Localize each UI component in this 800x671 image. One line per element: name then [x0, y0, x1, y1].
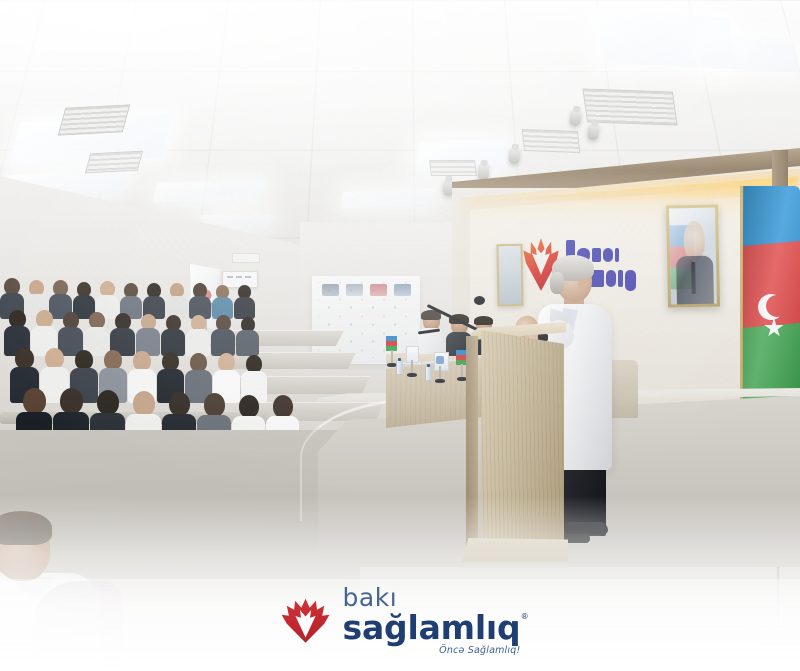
desk-flag [406, 346, 418, 364]
brand-name-line1: bakı [343, 585, 521, 610]
lectern [472, 330, 564, 562]
desk-flag [434, 352, 446, 370]
foreground-attendee-shoulder [32, 581, 122, 671]
brand-name-line2-text: sağlamlıq [343, 608, 521, 647]
air-vent [85, 151, 143, 174]
microphone-arm [427, 304, 479, 331]
portrait-glass-reflection [669, 208, 717, 305]
wall-sign [232, 253, 260, 263]
track-spotlight-icon [477, 164, 489, 181]
conference-hall-scene [0, 0, 800, 671]
foreground-attendee-hair [0, 511, 52, 545]
air-vent [429, 160, 477, 176]
desk-flag [386, 336, 398, 354]
wood-grain [472, 330, 564, 562]
backdrop-sponsor-row [318, 282, 414, 298]
lectern-base [462, 538, 568, 562]
lectern-side [466, 336, 478, 556]
speaker-shoe [564, 522, 608, 534]
ceiling-light-panel [696, 34, 800, 73]
microphone-capsule [474, 296, 485, 305]
water-bottle [425, 366, 432, 381]
speaker-hair-side [550, 272, 564, 294]
microphone-arm [418, 328, 440, 334]
sponsor-logo [322, 284, 339, 296]
foreground-attendee [0, 511, 136, 671]
wall-picture-image [498, 246, 521, 304]
sponsor-logo [394, 284, 411, 296]
air-vent [58, 104, 131, 135]
registered-symbol: ® [521, 613, 529, 621]
brand-tagline: Öncə Sağlamlıq! [343, 646, 521, 656]
brand-name-line2: sağlamlıq® [343, 611, 521, 644]
framed-official-portrait [666, 204, 720, 307]
speaker-ear [578, 278, 587, 290]
ceiling-light-panel [152, 179, 265, 203]
brand-logo-watermark: bakı sağlamlıq® Öncə Sağlamlıq! [280, 585, 521, 656]
flag-base [750, 624, 800, 638]
water-bottle [396, 360, 403, 375]
flame-tulip-heart-mark-icon [280, 595, 332, 645]
ceiling-light-panel [340, 188, 436, 208]
photo-canvas: bakı sağlamlıq® Öncə Sağlamlıq! [0, 0, 800, 671]
portrait-image [669, 208, 717, 305]
air-vent [522, 129, 581, 153]
brand-wordmark: bakı sağlamlıq® Öncə Sağlamlıq! [343, 585, 521, 656]
sponsor-logo [346, 284, 363, 296]
sponsor-logo [370, 284, 387, 296]
